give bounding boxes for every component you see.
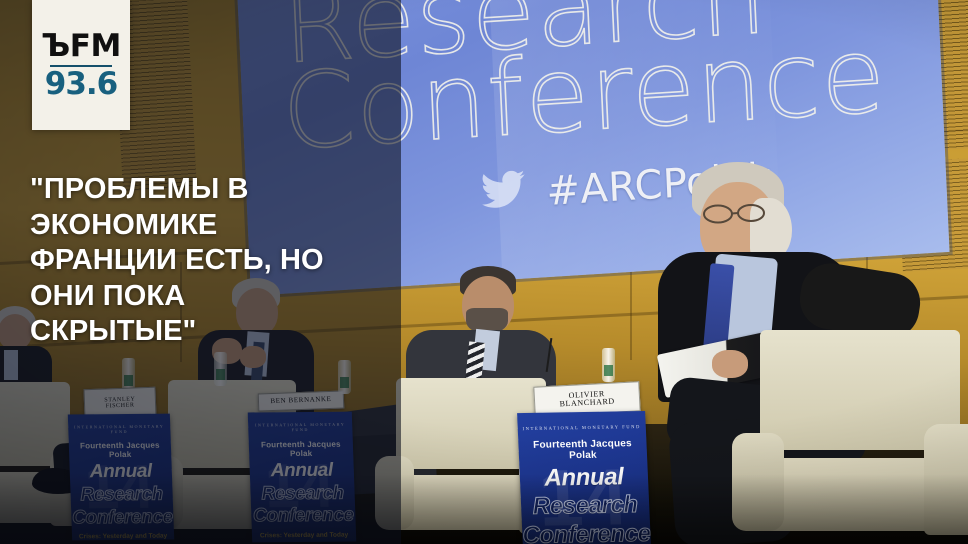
placard-org: INTERNATIONAL MONETARY FUND (68, 424, 170, 435)
news-image-card: Ann Research Conference #ARCPolak (0, 0, 968, 544)
nameplate-last-name: BLANCHARD (559, 398, 615, 409)
headline-quote: "ПРОБЛЕМЫ В ЭКОНОМИКЕ ФРАНЦИИ ЕСТЬ, НО О… (30, 172, 360, 350)
placard-org: INTERNATIONAL MONETARY FUND (248, 422, 352, 433)
placard-olivier-blanchard: 14 INTERNATIONAL MONETARY FUND Fourteent… (517, 411, 651, 544)
headline-line-4: ОНИ ПОКА (30, 279, 360, 315)
headline-line-2: ЭКОНОМИКЕ (30, 208, 360, 244)
logo-frequency: 93.6 (45, 69, 118, 100)
twitter-bird-icon (473, 164, 533, 216)
placard-watermark: 14 (264, 451, 335, 523)
headline-line-3: ФРАНЦИИ ЕСТЬ, НО (30, 243, 360, 279)
chair-olivier-blanchard (760, 330, 960, 544)
nameplate-first-name: BEN BERNANKE (270, 396, 331, 405)
headline-line-1: "ПРОБЛЕМЫ В (30, 172, 360, 208)
nameplate-last-name: FISCHER (106, 402, 135, 409)
station-logo[interactable]: ЪFM 93.6 (32, 0, 130, 130)
water-bottle (214, 352, 227, 386)
placard-ben-bernanke: 14 INTERNATIONAL MONETARY FUND Fourteent… (248, 412, 357, 543)
eyeglasses-icon (698, 200, 778, 228)
placard-watermark: 14 (83, 452, 154, 524)
placard-stanley-fischer: 14 INTERNATIONAL MONETARY FUND Fourteent… (68, 414, 174, 541)
water-bottle (338, 360, 351, 394)
placard-org: INTERNATIONAL MONETARY FUND (518, 424, 646, 431)
placard-subtitle: Crises: Yesterday and Today (72, 533, 174, 540)
logo-wordmark: ЪFM (41, 31, 121, 62)
water-bottle (602, 348, 615, 382)
placard-subtitle: Crises: Yesterday and Today (252, 532, 356, 540)
nameplate-ben-bernanke: BEN BERNANKE (258, 391, 345, 412)
headline-line-5: СКРЫТЫЕ" (30, 314, 360, 350)
placard-watermark: 14 (537, 451, 630, 544)
